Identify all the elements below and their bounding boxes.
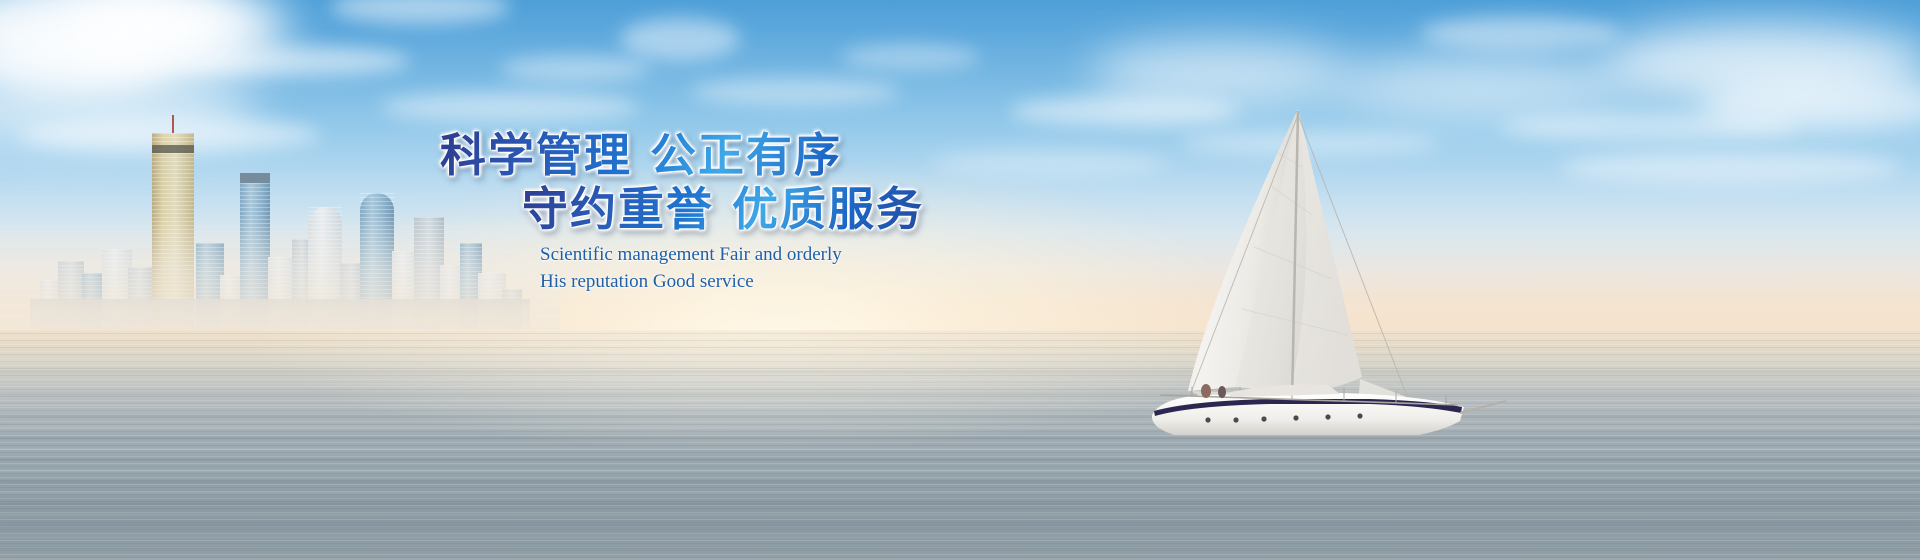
water-ripples-coarse <box>0 360 1920 560</box>
headline-line-1: 科学管理 公正有序 <box>440 128 960 182</box>
building-crown <box>240 173 270 183</box>
hull <box>1152 384 1506 435</box>
cloud-icon <box>1420 16 1620 50</box>
cloud-icon <box>840 44 980 70</box>
bowsprit <box>1460 401 1506 413</box>
crew-figure <box>1201 384 1211 398</box>
subtitle-block: Scientific management Fair and orderly H… <box>540 242 842 294</box>
cloud-icon <box>500 56 650 82</box>
tower-cap <box>152 145 194 153</box>
crew-figure <box>1218 386 1226 398</box>
cloud-icon <box>690 78 900 106</box>
cloud-icon <box>620 18 740 60</box>
headline-line-2: 守约重誉 优质服务 <box>522 182 960 236</box>
tower-antenna <box>172 115 174 133</box>
headline-block: 科学管理 公正有序 守约重誉 优质服务 <box>440 128 960 236</box>
cloud-icon <box>150 46 410 76</box>
hero-banner: 科学管理 公正有序 守约重誉 优质服务 Scientific managemen… <box>0 0 1920 560</box>
subtitle-line-2: His reputation Good service <box>540 269 842 294</box>
sea-water <box>0 330 1920 560</box>
subtitle-line-1: Scientific management Fair and orderly <box>540 242 842 267</box>
sailboat-graphic <box>1040 95 1560 435</box>
sailboat <box>1040 95 1560 435</box>
cloud-icon <box>1560 150 1900 184</box>
